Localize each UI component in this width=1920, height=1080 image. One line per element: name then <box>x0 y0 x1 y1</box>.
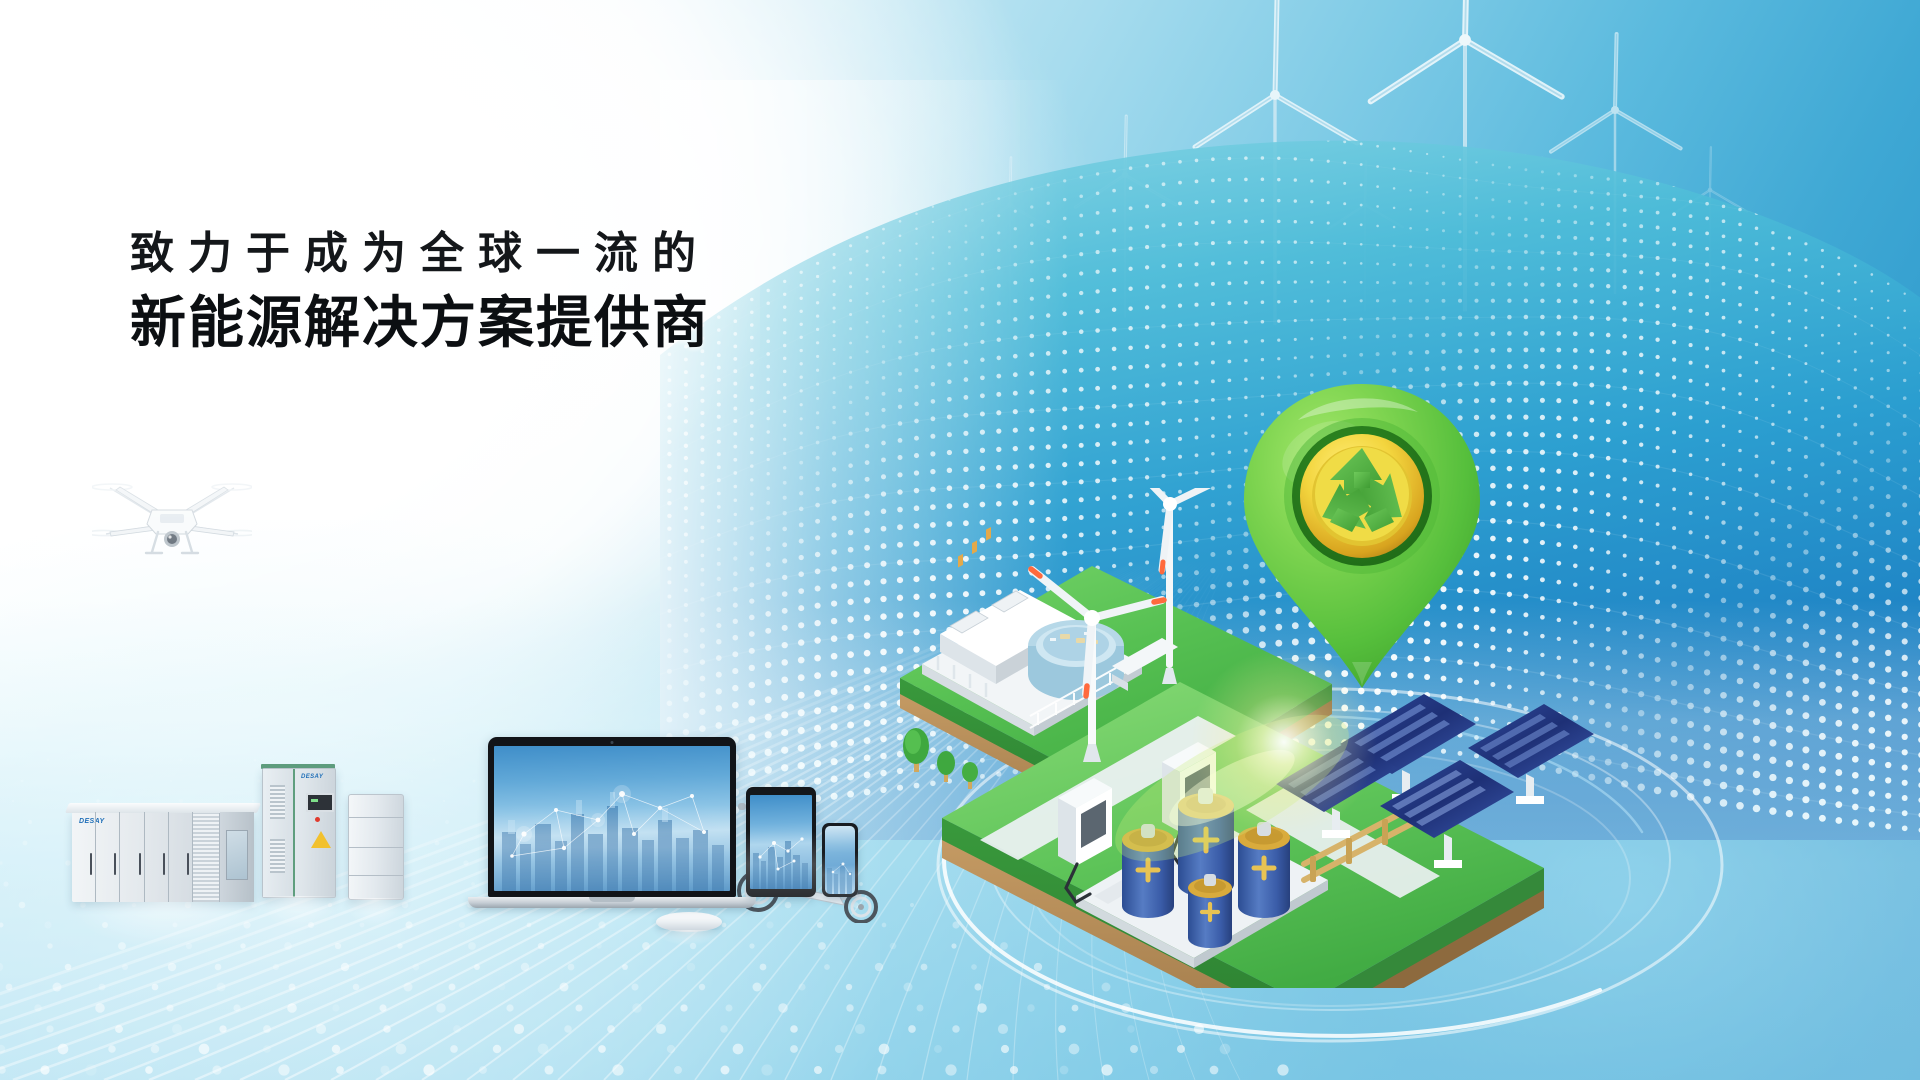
container-door <box>72 812 96 902</box>
tablet <box>746 787 816 897</box>
hero-banner: DESAY DESAY <box>0 0 1920 1080</box>
cabinet-brand-logo: DESAY <box>301 774 323 780</box>
container-door <box>96 812 120 902</box>
drone <box>92 476 252 573</box>
compact-storage-cabinet <box>348 794 404 900</box>
battery-storage-container: DESAY <box>72 812 254 902</box>
storage-tank <box>1028 620 1124 700</box>
container-door <box>169 812 193 902</box>
cabinet-control-section: DESAY <box>295 769 335 897</box>
container-door <box>145 812 169 902</box>
robot-vacuum <box>656 912 722 932</box>
location-pin-recycle-marker <box>1232 376 1492 721</box>
container-end-panel <box>220 812 254 902</box>
phone-screen-content <box>825 826 855 894</box>
laptop-base <box>468 897 756 908</box>
headline-block: 致力于成为全球一流的 新能源解决方案提供商 <box>130 226 710 358</box>
cabinet-hmi-display <box>306 793 334 812</box>
tablet-screen-content <box>750 795 812 889</box>
headline-line-1: 致力于成为全球一流的 <box>130 226 710 282</box>
laptop <box>488 737 756 908</box>
cabinet-indicator-lamp <box>315 817 320 822</box>
laptop-screen-content <box>494 746 730 891</box>
container-window <box>226 830 248 880</box>
container-door <box>120 812 144 902</box>
cabinet-vent-section <box>263 769 295 897</box>
smartphone <box>822 823 858 897</box>
container-vent <box>193 812 220 902</box>
laptop-camera-icon <box>611 741 614 744</box>
power-conversion-cabinet: DESAY <box>262 768 336 898</box>
headline-line-2: 新能源解决方案提供商 <box>130 288 710 358</box>
warning-triangle-icon <box>311 831 331 848</box>
